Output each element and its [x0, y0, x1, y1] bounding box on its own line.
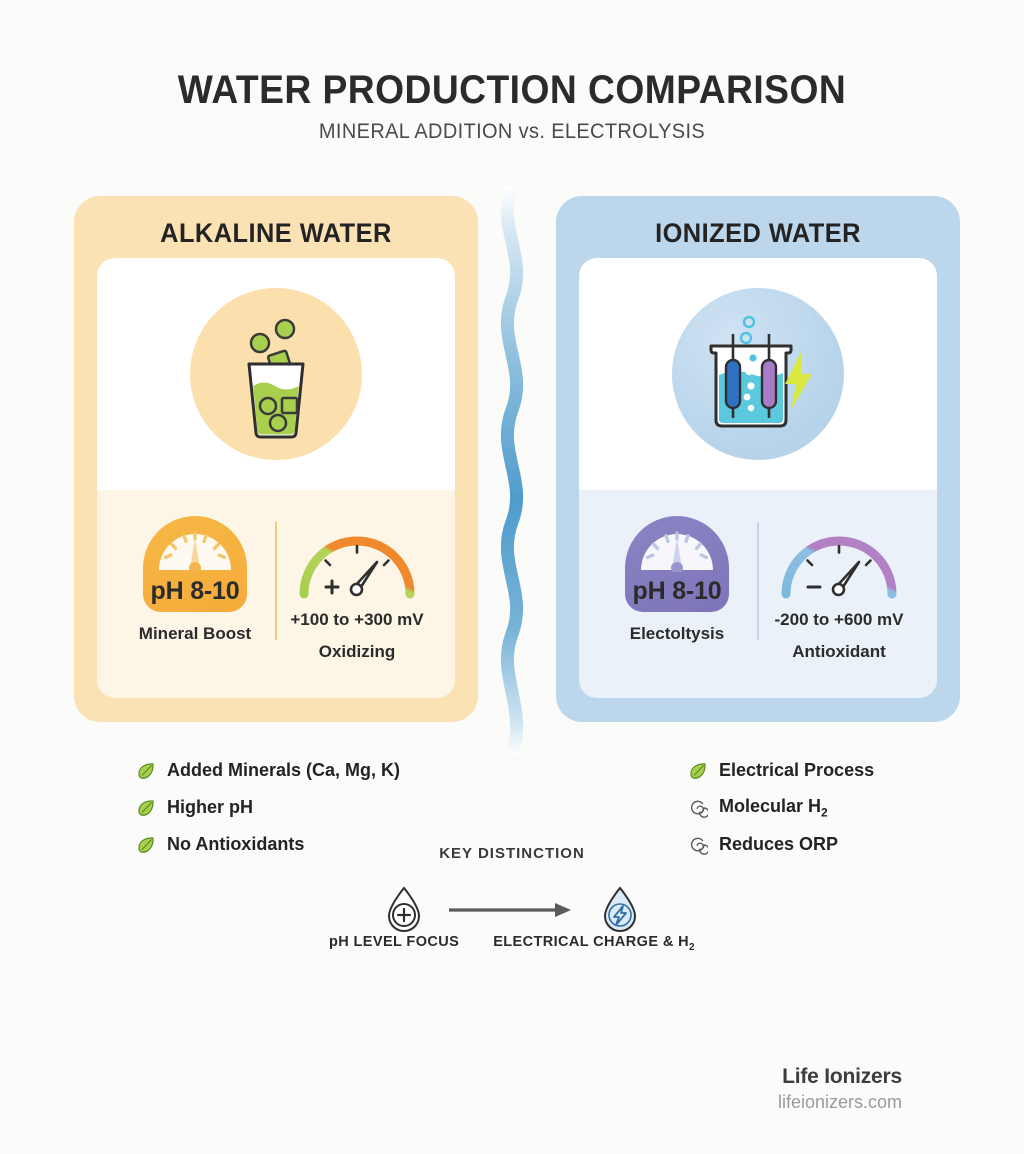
key-distinction-title: KEY DISTINCTION — [0, 845, 1024, 862]
card-title-ionized: IONIZED WATER — [568, 218, 948, 249]
brand-url: lifeionizers.com — [778, 1092, 902, 1113]
infographic-root: WATER PRODUCTION COMPARISON MINERAL ADDI… — [0, 0, 1024, 1154]
card-panel-alkaline: pH 8-10 Mineral Boost — [97, 258, 455, 698]
list-item: Electrical Process — [688, 752, 1018, 789]
arrow-right-icon — [445, 900, 579, 920]
leaf-icon — [136, 798, 156, 818]
ph-value-alkaline: pH 8-10 — [151, 577, 240, 606]
leaf-icon — [136, 761, 156, 781]
leaf-icon — [688, 761, 708, 781]
arc-gauge-icon — [291, 532, 423, 604]
ph-value-ionized: pH 8-10 — [633, 577, 722, 606]
card-alkaline-water: ALKALINE WATER — [74, 196, 478, 722]
feature-label: Molecular H2 — [719, 796, 828, 820]
orp-value-ionized: -200 to +600 mV — [775, 610, 904, 630]
arc-gauge-icon — [773, 532, 905, 604]
metric-orp-ionized: -200 to +600 mV Antioxidant — [759, 516, 919, 662]
orp-caption-ionized: Antioxidant — [792, 642, 886, 662]
orp-caption-alkaline: Oxidizing — [319, 642, 396, 662]
metrics-area-ionized: pH 8-10 Electoltysis — [579, 490, 937, 698]
key-distinction-row — [0, 884, 1024, 936]
hero-area-ionized — [579, 258, 937, 490]
water-drop-bolt-icon — [597, 884, 643, 936]
water-drop-plus-icon — [381, 884, 427, 936]
spiral-icon — [688, 798, 708, 818]
metric-ph-alkaline: pH 8-10 Mineral Boost — [115, 516, 275, 644]
metric-ph-ionized: pH 8-10 Electoltysis — [597, 516, 757, 644]
key-distinction-from-caption: pH LEVEL FOCUS — [329, 934, 459, 953]
card-title-alkaline: ALKALINE WATER — [86, 218, 466, 249]
list-item: Higher pH — [136, 789, 466, 826]
key-distinction-to-caption: ELECTRICAL CHARGE & H2 — [493, 934, 695, 953]
hero-circle-alkaline — [190, 288, 362, 460]
page-title: WATER PRODUCTION COMPARISON — [36, 68, 988, 113]
ph-badge-ionized: pH 8-10 — [625, 516, 729, 612]
hero-area-alkaline — [97, 258, 455, 490]
feature-label: Higher pH — [167, 797, 253, 818]
list-item: Added Minerals (Ca, Mg, K) — [136, 752, 466, 789]
glass-of-water-with-minerals-icon — [216, 309, 336, 439]
gauge-icon — [636, 524, 718, 572]
hero-circle-ionized — [672, 288, 844, 460]
ph-badge-alkaline: pH 8-10 — [143, 516, 247, 612]
page-subtitle: MINERAL ADDITION vs. ELECTROLYSIS — [26, 120, 999, 144]
ph-caption-ionized: Electoltysis — [630, 624, 725, 644]
wavy-water-divider-icon — [472, 186, 552, 756]
key-distinction-captions: pH LEVEL FOCUS ELECTRICAL CHARGE & H2 — [0, 934, 1024, 953]
metrics-row-ionized: pH 8-10 Electoltysis — [579, 516, 937, 662]
metrics-area-alkaline: pH 8-10 Mineral Boost — [97, 490, 455, 698]
feature-label: Added Minerals (Ca, Mg, K) — [167, 760, 400, 781]
gauge-icon — [154, 524, 236, 572]
brand-name: Life Ionizers — [782, 1065, 902, 1089]
list-item: Molecular H2 — [688, 789, 1018, 826]
feature-label: Electrical Process — [719, 760, 874, 781]
orp-value-alkaline: +100 to +300 mV — [290, 610, 423, 630]
electrolysis-beaker-icon — [691, 312, 825, 436]
ph-caption-alkaline: Mineral Boost — [139, 624, 251, 644]
card-panel-ionized: pH 8-10 Electoltysis — [579, 258, 937, 698]
card-ionized-water: IONIZED WATER — [556, 196, 960, 722]
metrics-row-alkaline: pH 8-10 Mineral Boost — [97, 516, 455, 662]
metric-orp-alkaline: +100 to +300 mV Oxidizing — [277, 516, 437, 662]
